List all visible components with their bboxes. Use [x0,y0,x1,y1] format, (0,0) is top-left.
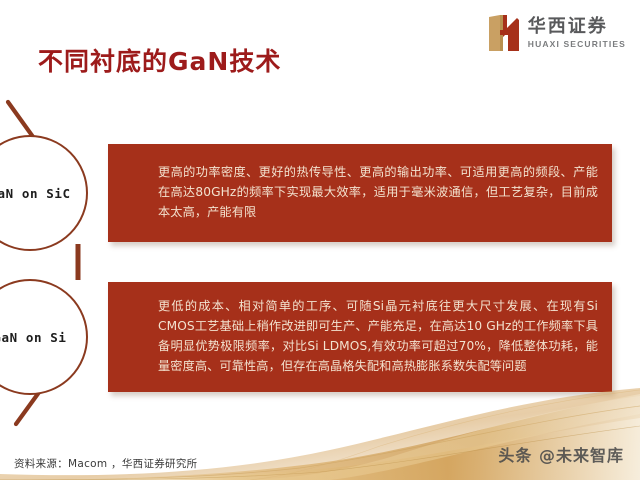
source-attribution: 资料来源：Macom ，华西证券研究所 [14,456,197,471]
page-title: 不同衬底的GaN技术 [38,42,281,78]
panel-gan-on-sic: 更高的功率密度、更好的热传导性、更高的输出功率、可适用更高的频段、产能在高达80… [108,144,612,242]
bubble-label-gan-on-sic: GaN on SiC [0,186,71,201]
slide-canvas: 华西证券 HUAXI SECURITIES 不同衬底的GaN技术 更高的功率密度… [0,0,640,480]
ribbon-band-diagonal [250,396,640,480]
watermark-label: 头条 @未来智库 [498,442,624,466]
panel-body-gan-on-sic: 更高的功率密度、更好的热传导性、更高的输出功率、可适用更高的频段、产能在高达80… [108,159,612,226]
panel-gan-on-si: 更低的成本、相对简单的工序、可随Si晶元衬底往更大尺寸发展、在现有Si CMOS… [108,282,612,392]
logo-english-name: HUAXI SECURITIES [528,39,626,49]
panel-body-gan-on-si: 更低的成本、相对简单的工序、可随Si晶元衬底往更大尺寸发展、在现有Si CMOS… [108,293,612,380]
huaxi-securities-logo: 华西证券 HUAXI SECURITIES [487,14,626,52]
bubble-gan-on-si[interactable]: GaN on Si [0,279,88,395]
ribbon-strand-3 [250,390,640,480]
logo-wordmark: 华西证券 HUAXI SECURITIES [528,17,626,49]
bubble-gan-on-sic[interactable]: GaN on SiC [0,135,88,251]
huaxi-h-monogram-icon [487,14,521,52]
content-row-gan-on-si: 更低的成本、相对简单的工序、可随Si晶元衬底往更大尺寸发展、在现有Si CMOS… [0,282,640,392]
bubble-label-gan-on-si: GaN on Si [0,330,67,345]
content-row-gan-on-sic: 更高的功率密度、更好的热传导性、更高的输出功率、可适用更高的频段、产能在高达80… [0,144,640,242]
logo-chinese-name: 华西证券 [528,17,608,37]
